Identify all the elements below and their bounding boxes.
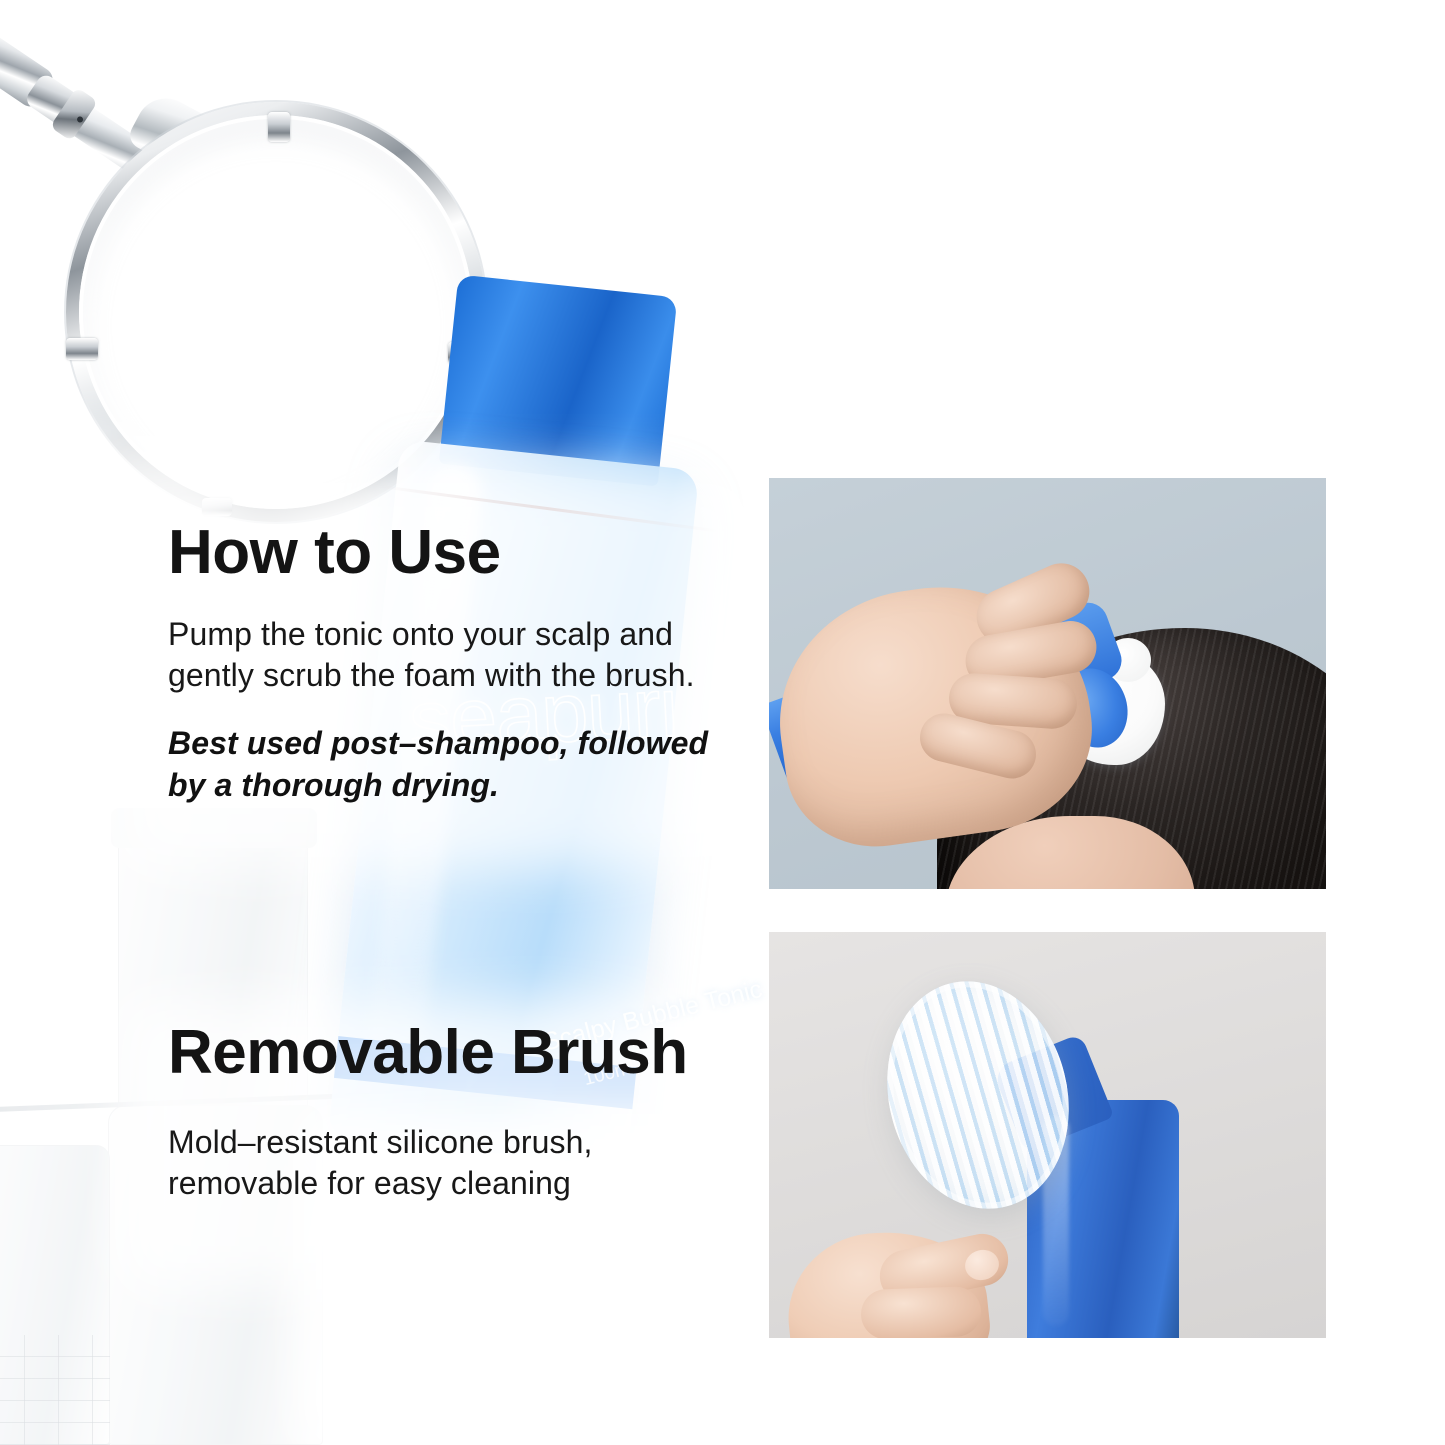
how-to-use-title: How to Use: [168, 522, 728, 584]
removable-brush-title: Removable Brush: [168, 1022, 748, 1084]
photo-detached-brush-head: [769, 932, 1326, 1338]
how-to-use-emphasis: Best used post–shampoo, followed by a th…: [168, 722, 728, 806]
section-removable-brush: Removable Brush Mold–resistant silicone …: [168, 1022, 748, 1204]
glass-grid-texture: [0, 1335, 110, 1445]
photo-applying-to-scalp: [769, 478, 1326, 889]
magnifier-clip-left: [66, 338, 98, 360]
product-infographic: seapuri Scalpy Bubble Tonic 100ml / 3.38…: [0, 0, 1445, 1445]
magnifier-clip-top: [268, 112, 290, 142]
removable-brush-body: Mold–resistant silicone brush, removable…: [168, 1122, 748, 1204]
section-how-to-use: How to Use Pump the tonic onto your scal…: [168, 522, 728, 806]
glass-jar-left: [0, 1145, 110, 1445]
how-to-use-body: Pump the tonic onto your scalp and gentl…: [168, 614, 728, 696]
magnifier-clip-bottom: [202, 498, 232, 516]
finger: [860, 1286, 982, 1338]
